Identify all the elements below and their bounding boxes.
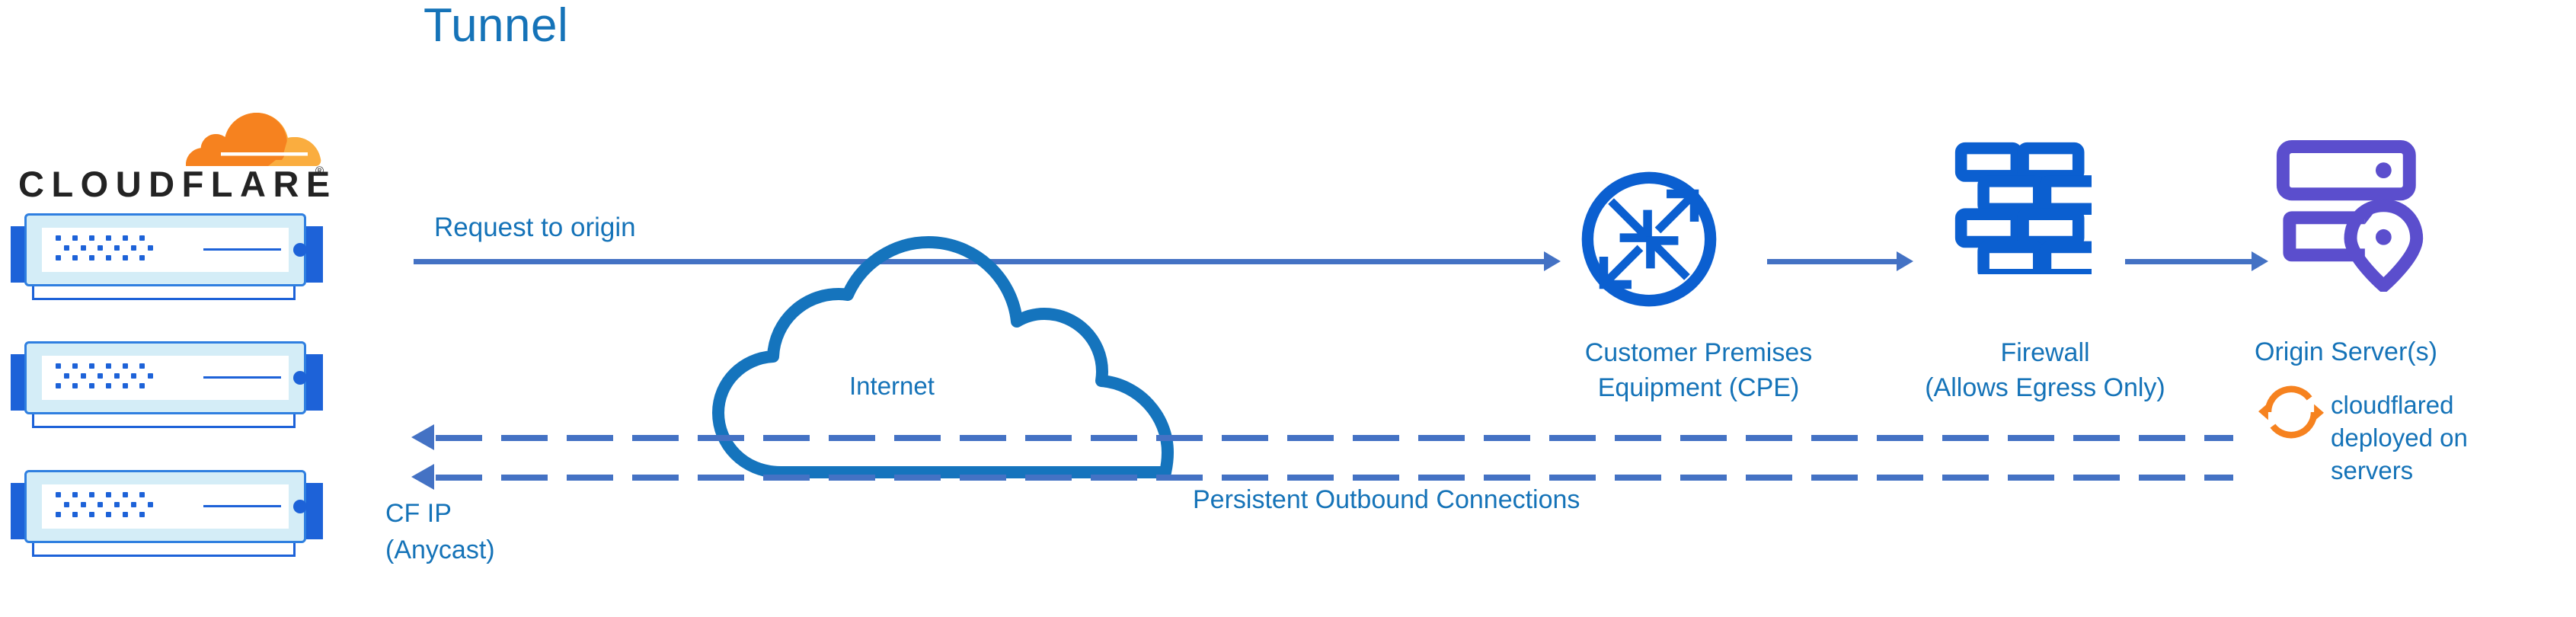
server-rack-location-pin-icon: [2276, 139, 2425, 292]
server-status-line: [203, 505, 281, 507]
internet-label: Internet: [849, 369, 935, 403]
firewall-label-line2: (Allows Egress Only): [1925, 373, 2165, 402]
cloudflared-label-line3: servers: [2331, 456, 2413, 484]
router-circle-arrows-icon: [1576, 166, 1722, 312]
request-to-origin-label: Request to origin: [434, 211, 636, 245]
edge-server-2: [11, 337, 323, 430]
internet-cloud-icon: [712, 236, 1200, 495]
persistent-connection-arrowhead-2: [411, 464, 434, 490]
server-tab-right: [306, 483, 323, 539]
request-to-origin-arrowhead: [1544, 251, 1561, 271]
server-tab-right: [306, 226, 323, 283]
server-status-led: [293, 243, 307, 257]
server-status-line: [203, 248, 281, 251]
cloudflare-cloud-icon: [169, 107, 321, 168]
persistent-connection-arrowhead-1: [411, 424, 434, 450]
cpe-to-firewall-arrowhead: [1897, 251, 1913, 271]
firewall-label: Firewall (Allows Egress Only): [1885, 335, 2205, 405]
edge-server-1: [11, 209, 323, 302]
server-status-led: [293, 500, 307, 513]
registered-trademark-symbol: ®: [315, 165, 324, 177]
cf-ip-line1: CF IP: [385, 499, 452, 528]
server-chassis: [24, 470, 306, 543]
brick-wall-icon: [1954, 141, 2092, 274]
persistent-outbound-connections-label: Persistent Outbound Connections: [1193, 483, 1580, 516]
persistent-connection-line-2: [436, 475, 2233, 481]
firewall-to-origin-line: [2125, 259, 2252, 264]
server-status-led: [293, 371, 307, 385]
cf-ip-anycast-label: CF IP (Anycast): [385, 495, 495, 568]
server-faceplate: [42, 228, 289, 272]
server-faceplate: [42, 484, 289, 529]
cloudflared-label-line2: deployed on: [2331, 424, 2468, 452]
cpe-label: Customer Premises Equipment (CPE): [1539, 335, 1858, 405]
firewall-label-line1: Firewall: [2000, 338, 2089, 367]
server-faceplate: [42, 356, 289, 400]
cloudflared-label: cloudflared deployed on servers: [2331, 388, 2529, 487]
server-chassis: [24, 213, 306, 286]
firewall-to-origin-arrowhead: [2252, 251, 2268, 271]
cpe-to-firewall-line: [1767, 259, 1897, 264]
page-title: Tunnel: [423, 0, 568, 53]
cf-ip-line2: (Anycast): [385, 535, 495, 564]
cpe-label-line2: Equipment (CPE): [1598, 373, 1800, 402]
server-status-line: [203, 376, 281, 379]
tunnel-architecture-diagram: Tunnel CLOUDFLARE ®: [0, 0, 2576, 617]
server-tab-right: [306, 354, 323, 411]
cloudflare-wordmark: CLOUDFLARE: [18, 163, 337, 205]
server-chassis: [24, 341, 306, 414]
cloudflare-logo: CLOUDFLARE ®: [17, 107, 337, 206]
origin-server-label: Origin Server(s): [2255, 335, 2559, 369]
cloudflared-label-line1: cloudflared: [2331, 391, 2453, 419]
persistent-connection-line-1: [436, 435, 2233, 441]
cpe-label-line1: Customer Premises: [1585, 338, 1813, 367]
edge-server-3: [11, 466, 323, 559]
sync-circular-arrows-icon: [2258, 379, 2324, 445]
